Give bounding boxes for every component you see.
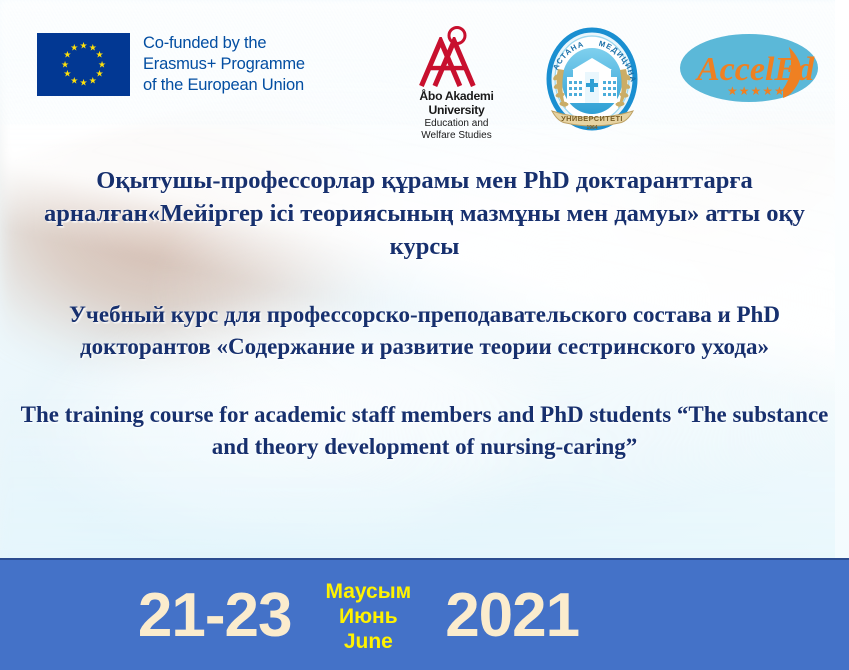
seal-year-text: 1964 (586, 125, 597, 131)
abo-double-a-icon (404, 37, 509, 87)
astana-medical-university-seal: АСТАНА МЕДИЦИНА УНИВЕРСИТЕТІ 1964 (540, 25, 645, 135)
title-kazakh: Оқытушы-профессорлар құрамы мен PhD докт… (0, 164, 849, 263)
eu-star-icon: ★ (79, 42, 87, 51)
acceled-logo-icon: AccelEd ★★★★★ (679, 31, 819, 106)
european-union-erasmus-logo: ★★★★★★★★★★★★ Co-funded by the Erasmus+ P… (37, 33, 305, 96)
erasmus-line-3: of the European Union (143, 75, 305, 96)
abo-sub-line-1: Education and (404, 118, 509, 130)
erasmus-line-2: Erasmus+ Programme (143, 54, 305, 75)
abo-name-text: Åbo Akademi University (404, 90, 509, 117)
abo-sub-line-2: Welfare Studies (404, 130, 509, 142)
eu-star-icon: ★ (79, 79, 87, 88)
abo-subtitle-text: Education and Welfare Studies (404, 118, 509, 142)
eu-star-icon: ★ (70, 44, 78, 53)
month-kazakh: Маусым (325, 579, 411, 604)
acceled-stars: ★★★★★ (727, 84, 786, 98)
title-russian: Учебный курс для профессорско-преподават… (0, 299, 849, 363)
eu-star-icon: ★ (61, 60, 69, 69)
eu-star-icon: ★ (89, 76, 97, 85)
abo-name-line-1: Åbo Akademi (404, 90, 509, 104)
month-russian: Июнь (339, 604, 398, 629)
logo-strip: ★★★★★★★★★★★★ Co-funded by the Erasmus+ P… (0, 0, 849, 155)
acceled-project-logo: AccelEd ★★★★★ (679, 31, 819, 106)
event-days: 21-23 (138, 585, 292, 647)
seal-banner-text: УНИВЕРСИТЕТІ (561, 114, 623, 123)
abo-akademi-university-logo: Åbo Akademi University Education and Wel… (404, 26, 509, 142)
title-block: Оқытушы-профессорлар құрамы мен PhD докт… (0, 164, 849, 463)
abo-aa-monogram-icon (404, 26, 509, 88)
date-banner: 21-23 Маусым Июнь June 2021 (0, 558, 849, 670)
event-month-names: Маусым Июнь June (325, 579, 411, 654)
erasmus-caption: Co-funded by the Erasmus+ Programme of t… (143, 33, 305, 96)
abo-name-line-2: University (404, 104, 509, 118)
month-english: June (344, 629, 393, 654)
eu-flag-icon: ★★★★★★★★★★★★ (37, 33, 130, 96)
event-year: 2021 (445, 585, 579, 647)
eu-star-icon: ★ (63, 69, 71, 78)
astana-seal-icon: АСТАНА МЕДИЦИНА УНИВЕРСИТЕТІ 1964 (540, 25, 645, 135)
conference-poster: ★★★★★★★★★★★★ Co-funded by the Erasmus+ P… (0, 0, 849, 670)
erasmus-line-1: Co-funded by the (143, 33, 305, 54)
title-english: The training course for academic staff m… (0, 399, 849, 463)
eu-stars-circle: ★★★★★★★★★★★★ (37, 33, 130, 96)
